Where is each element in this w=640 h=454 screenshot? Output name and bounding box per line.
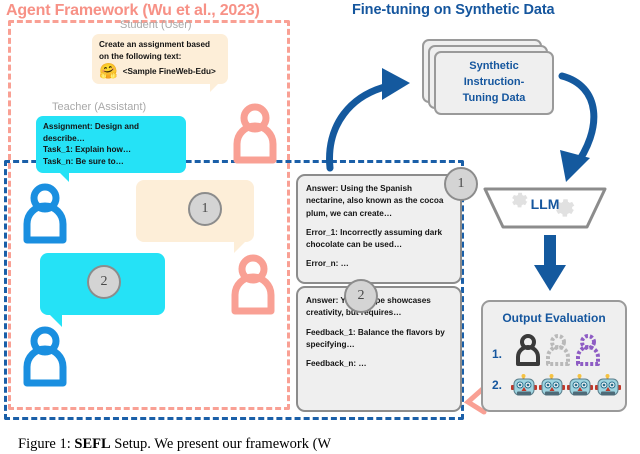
round-one-badge: 1 [188,192,222,226]
student-person-icon-inner [230,255,276,313]
robot-icon-1 [511,375,537,397]
synthetic-data-card-front: Synthetic Instruction- Tuning Data [434,51,554,115]
synthetic-card-line-1: Synthetic [463,59,526,75]
robot-icon-4 [595,375,621,397]
answer-box-one: Answer: Using the Spanish nectarine, als… [296,174,462,284]
human-gray-icon [545,334,571,366]
caption-bold: SEFL [74,436,110,452]
arrow-to-evaluation-icon [533,233,567,295]
figure-caption: Figure 1: SEFL Setup. We present our fra… [18,436,622,453]
teacher-message-line-1: Assignment: Design and describe… [43,121,179,144]
answer-two-badge: 2 [344,279,378,313]
figure-canvas: Agent Framework (Wu et al., 2023) Fine-t… [0,0,640,454]
robot-icon-2 [539,375,565,397]
evaluation-item-2-label: 2. [492,378,502,392]
synthetic-card-line-2: Instruction- [463,75,526,91]
sample-dataset-label: <Sample FineWeb-Edu> [123,66,216,78]
student-message-line-2: on the following text: [99,51,221,63]
teacher-person-icon-top [22,184,68,242]
student-person-icon [232,104,278,162]
synthetic-card-line-3: Tuning Data [463,91,526,107]
answer-text: Answer: Your recipe showcases creativity… [306,295,452,320]
feedback-n-text: Feedback_n: … [306,358,452,370]
caption-prefix: Figure 1: [18,436,74,452]
evaluation-item-1-label: 1. [492,347,502,361]
caption-rest: Setup. We present our framework (W [111,436,331,452]
llm-label: LLM [483,196,607,212]
teacher-role-label: Teacher (Assistant) [52,101,146,113]
error-n-text: Error_n: … [306,258,452,270]
student-message-bubble: Create an assignment based on the follow… [92,34,228,84]
answer-text: Answer: Using the Spanish nectarine, als… [306,183,452,220]
robot-icon-3 [567,375,593,397]
round-two-badge: 2 [87,265,121,299]
arrow-to-synthetic-data-icon [318,62,428,172]
teacher-message-line-3: Task_n: Be sure to… [43,156,179,168]
answer-one-badge: 1 [444,167,478,201]
bubble-tail [234,241,246,253]
bubble-tail [59,172,69,182]
teacher-person-icon-bottom [22,327,68,385]
teacher-message-line-2: Task_1: Explain how… [43,144,179,156]
answer-box-two: Answer: Your recipe showcases creativity… [296,286,462,412]
feedback-one-text: Feedback_1: Balance the flavors by speci… [306,327,452,352]
student-role-label: Student (User) [120,19,192,31]
human-purple-icon [575,334,601,366]
fine-tuning-title: Fine-tuning on Synthetic Data [352,2,555,18]
error-one-text: Error_1: Incorrectly assuming dark choco… [306,227,452,252]
bubble-tail [49,314,62,327]
agent-framework-title: Agent Framework (Wu et al., 2023) [6,2,260,20]
teacher-message-bubble: Assignment: Design and describe… Task_1:… [36,116,186,173]
student-message-line-1: Create an assignment based [99,39,221,51]
hugging-face-emoji-icon: 🤗 [99,64,118,79]
arrow-to-llm-icon [556,66,636,186]
output-evaluation-title: Output Evaluation [481,311,627,325]
human-dark-icon [515,334,541,366]
bubble-tail [210,83,219,92]
